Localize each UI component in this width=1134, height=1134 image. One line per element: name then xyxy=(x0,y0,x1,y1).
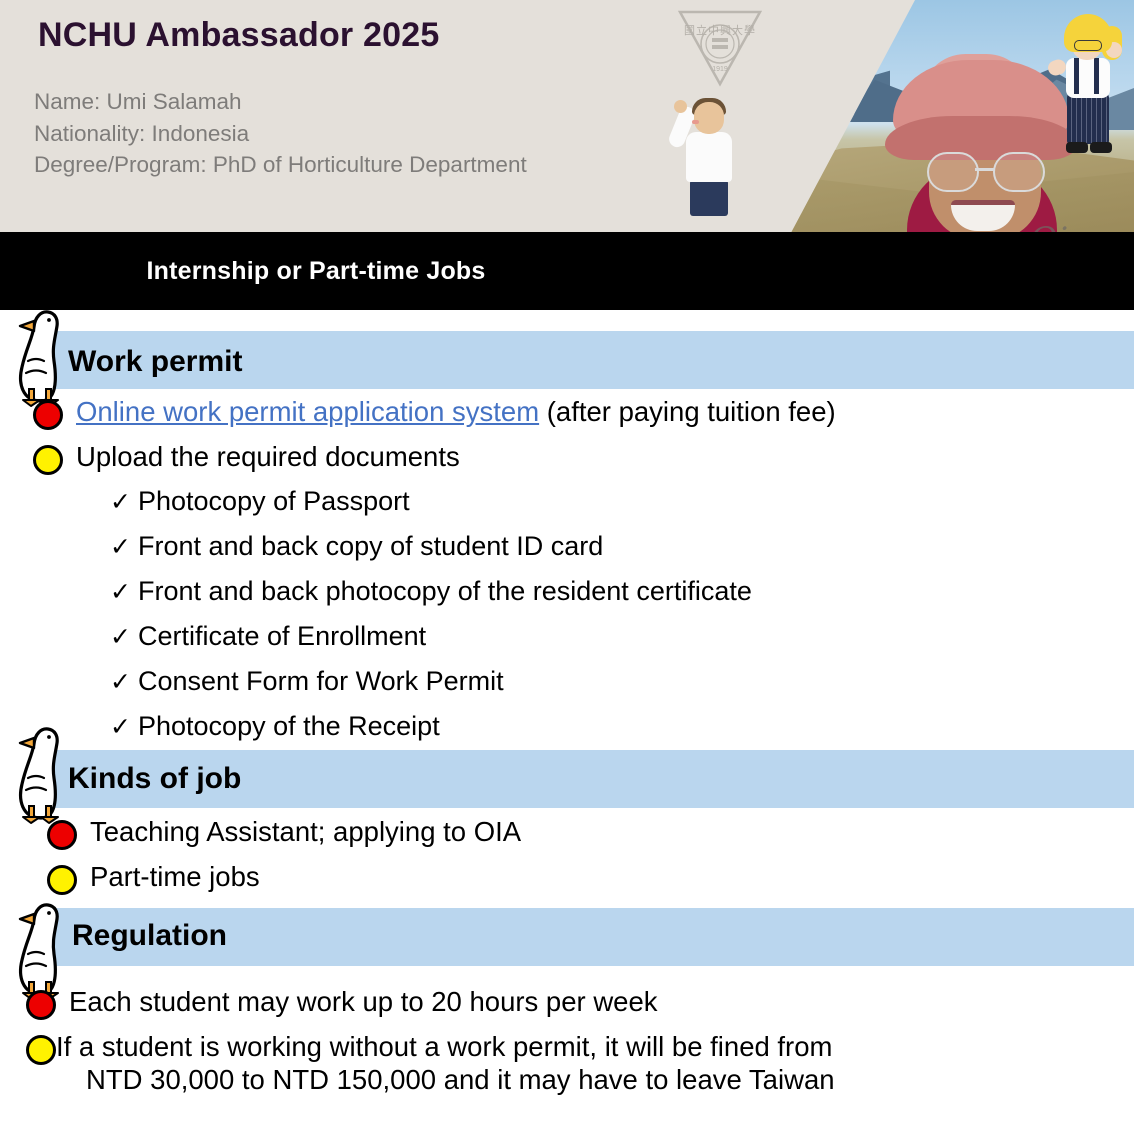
bullet-regulation-2: If a student is working without a work p… xyxy=(26,1030,1126,1096)
goose-icon xyxy=(8,305,74,409)
bullet-regulation-2-text-cont: NTD 30,000 to NTD 150,000 and it may hav… xyxy=(86,1063,835,1096)
bullet-marker-yellow xyxy=(26,1035,56,1065)
bullet-work-permit-1: Online work permit application system (a… xyxy=(33,395,1123,430)
cartoon-boy-icon xyxy=(672,88,738,216)
bullet-marker-red xyxy=(26,990,56,1020)
ambassador-degree: Degree/Program: PhD of Horticulture Depa… xyxy=(34,149,527,181)
checklist-item-label: Photocopy of the Receipt xyxy=(138,711,440,742)
checklist-item-label: Front and back photocopy of the resident… xyxy=(138,576,752,607)
check-icon: ✓ xyxy=(110,712,138,741)
checklist-item: ✓ Photocopy of the Receipt xyxy=(110,711,440,742)
work-permit-link-note: (after paying tuition fee) xyxy=(539,396,836,427)
ambassador-name: Name: Umi Salamah xyxy=(34,86,527,118)
nchu-logo-year: 1919 xyxy=(684,66,756,73)
bullet-marker-yellow xyxy=(33,445,63,475)
bullet-marker-red xyxy=(33,400,63,430)
bullet-work-permit-2-text: Upload the required documents xyxy=(76,440,460,473)
check-icon: ✓ xyxy=(110,622,138,651)
bullet-kinds-of-job-1-text: Teaching Assistant; applying to OIA xyxy=(90,815,521,848)
section-title-regulation: Regulation xyxy=(72,919,227,953)
checklist-item: ✓ Photocopy of Passport xyxy=(110,486,410,517)
bullet-regulation-1-text: Each student may work up to 20 hours per… xyxy=(69,985,658,1018)
work-permit-link[interactable]: Online work permit application system xyxy=(76,396,539,427)
ambassador-nationality: Nationality: Indonesia xyxy=(34,118,527,150)
checklist-item-label: Consent Form for Work Permit xyxy=(138,666,504,697)
cartoon-girl-icon xyxy=(1052,12,1124,162)
nchu-triangle-logo-icon: 國立中興大學 1919 xyxy=(676,8,764,88)
checklist-item: ✓ Consent Form for Work Permit xyxy=(110,666,504,697)
checklist-item-label: Photocopy of Passport xyxy=(138,486,410,517)
bullet-marker-yellow xyxy=(47,865,77,895)
check-icon: ✓ xyxy=(110,577,138,606)
topic-band-label: Internship or Part-time Jobs xyxy=(0,232,632,310)
ambassador-info: Name: Umi Salamah Nationality: Indonesia… xyxy=(34,86,527,181)
page-title: NCHU Ambassador 2025 xyxy=(38,16,439,55)
checklist-item: ✓ Front and back photocopy of the reside… xyxy=(110,576,752,607)
check-icon: ✓ xyxy=(110,532,138,561)
checklist-item-label: Front and back copy of student ID card xyxy=(138,531,603,562)
section-title-kinds-of-job: Kinds of job xyxy=(68,762,241,796)
checklist-item-label: Certificate of Enrollment xyxy=(138,621,426,652)
slide-header: 國立中興大學 1919 Oia 興大國際處 xyxy=(0,0,1134,310)
bullet-marker-red xyxy=(47,820,77,850)
checklist-item: ✓ Front and back copy of student ID card xyxy=(110,531,603,562)
checklist-item: ✓ Certificate of Enrollment xyxy=(110,621,426,652)
bullet-kinds-of-job-2-text: Part-time jobs xyxy=(90,860,260,893)
bullet-regulation-2-text: If a student is working without a work p… xyxy=(56,1030,835,1063)
goose-icon xyxy=(8,722,74,826)
check-icon: ✓ xyxy=(110,667,138,696)
section-title-work-permit: Work permit xyxy=(68,345,242,379)
check-icon: ✓ xyxy=(110,487,138,516)
nchu-logo-cn-text: 國立中興大學 xyxy=(684,22,756,38)
bullet-regulation-1: Each student may work up to 20 hours per… xyxy=(26,985,1126,1020)
slide: 國立中興大學 1919 Oia 興大國際處 xyxy=(0,0,1134,1134)
bullet-kinds-of-job-2: Part-time jobs xyxy=(47,860,1127,895)
bullet-work-permit-2: Upload the required documents xyxy=(33,440,1123,475)
bullet-kinds-of-job-1: Teaching Assistant; applying to OIA xyxy=(47,815,1127,850)
